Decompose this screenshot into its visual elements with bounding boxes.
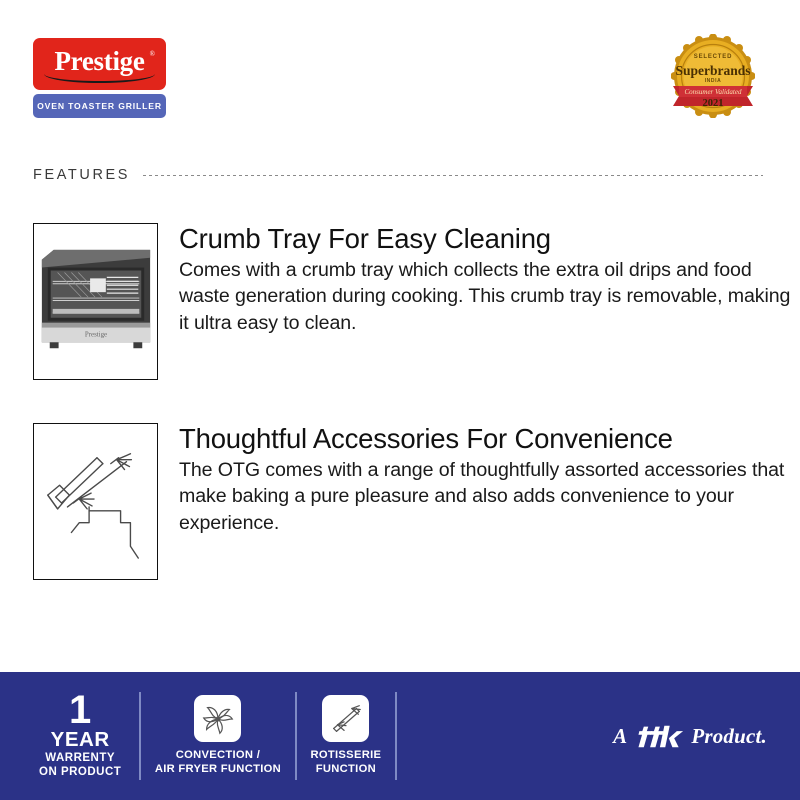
rotisserie-label-line-1: ROTISSERIE: [311, 749, 382, 763]
prestige-logo-red-panel: Prestige ®: [33, 38, 166, 90]
feature-title: Crumb Tray For Easy Cleaning: [179, 224, 800, 255]
warranty-line-1: WARRENTY: [39, 751, 121, 765]
svg-text:SELECTED: SELECTED: [694, 54, 732, 60]
warranty-number: 1: [39, 692, 121, 729]
rotisserie-accessories-photo: [33, 423, 158, 580]
svg-text:Consumer Validated: Consumer Validated: [685, 88, 742, 96]
svg-text:2021: 2021: [703, 98, 724, 109]
footer-badges: 1 YEAR WARRENTY ON PRODUCT: [33, 672, 397, 800]
feature-item: Thoughtful Accessories For Convenience T…: [33, 423, 800, 580]
feature-body: The OTG comes with a range of thoughtful…: [179, 457, 800, 537]
svg-text:Superbrands: Superbrands: [675, 63, 750, 78]
features-label: FEATURES: [33, 167, 130, 183]
page-header: Prestige ® OVEN TOASTER GRILLER: [0, 0, 800, 150]
rotisserie-rod-icon: [322, 695, 369, 742]
swoosh-icon: [44, 74, 155, 83]
features-section-header: FEATURES: [33, 167, 763, 183]
dotted-rule: [143, 175, 763, 176]
convection-label-line-1: CONVECTION /: [155, 749, 281, 763]
prestige-wordmark: Prestige: [54, 48, 144, 75]
footer-bar: 1 YEAR WARRENTY ON PRODUCT: [0, 672, 800, 800]
ttk-credit-prefix: A: [613, 724, 627, 749]
feature-body: Comes with a crumb tray which collects t…: [179, 257, 800, 337]
prestige-logo-subtitle-panel: OVEN TOASTER GRILLER: [33, 94, 166, 118]
feature-text: Thoughtful Accessories For Convenience T…: [179, 423, 800, 580]
ttk-logo-icon: [634, 723, 684, 750]
ttk-credit-suffix: Product.: [691, 724, 767, 749]
svg-text:INDIA: INDIA: [705, 78, 722, 84]
footer-divider: [395, 692, 397, 780]
prestige-logo: Prestige ® OVEN TOASTER GRILLER: [33, 38, 166, 118]
rotisserie-label-line-2: FUNCTION: [311, 763, 382, 777]
warranty-badge: 1 YEAR WARRENTY ON PRODUCT: [33, 692, 139, 779]
warranty-year: YEAR: [39, 729, 121, 751]
registered-mark-icon: ®: [150, 50, 155, 58]
otg-oven-photo: Prestige: [33, 223, 158, 380]
ttk-product-credit: A Product.: [613, 672, 767, 800]
warranty-line-2: ON PRODUCT: [39, 765, 121, 779]
convection-function-badge: CONVECTION / AIR FRYER FUNCTION: [141, 695, 295, 776]
prestige-logo-subtitle: OVEN TOASTER GRILLER: [37, 101, 162, 111]
rotisserie-function-badge: ROTISSERIE FUNCTION: [297, 695, 396, 776]
fan-icon: [194, 695, 241, 742]
feature-item: Prestige Crumb Tray For Easy Cleaning Co…: [33, 223, 800, 380]
convection-label-line-2: AIR FRYER FUNCTION: [155, 763, 281, 777]
svg-text:Prestige: Prestige: [85, 331, 107, 338]
superbrands-badge: SELECTED Superbrands INDIA Consumer Vali…: [671, 34, 755, 118]
feature-text: Crumb Tray For Easy Cleaning Comes with …: [179, 223, 800, 380]
feature-title: Thoughtful Accessories For Convenience: [179, 424, 800, 455]
